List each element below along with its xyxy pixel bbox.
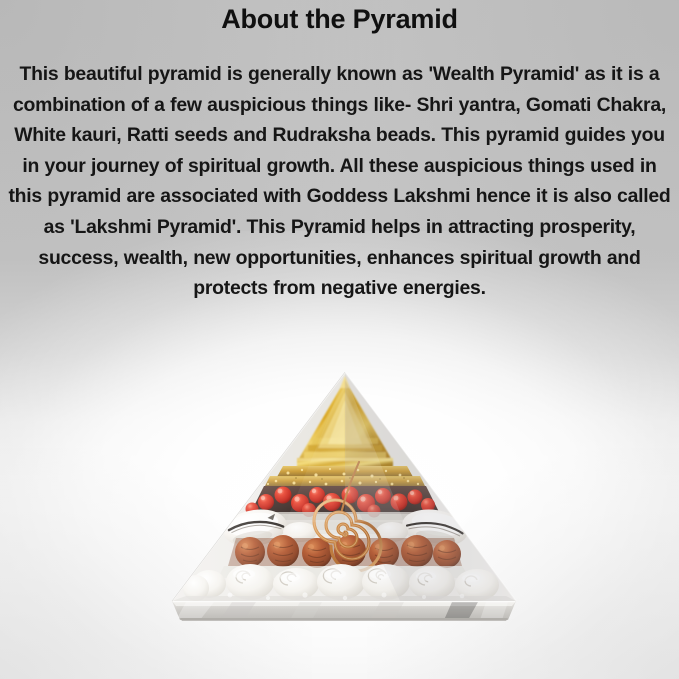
about-paragraph: This beautiful pyramid is generally know…	[0, 35, 679, 304]
product-image	[0, 352, 679, 642]
pyramid-illustration	[0, 352, 679, 642]
pyramid-body	[172, 372, 516, 621]
content-region: About the Pyramid This beautiful pyramid…	[0, 0, 679, 304]
crystal-base	[172, 601, 516, 621]
page-title: About the Pyramid	[0, 0, 679, 35]
